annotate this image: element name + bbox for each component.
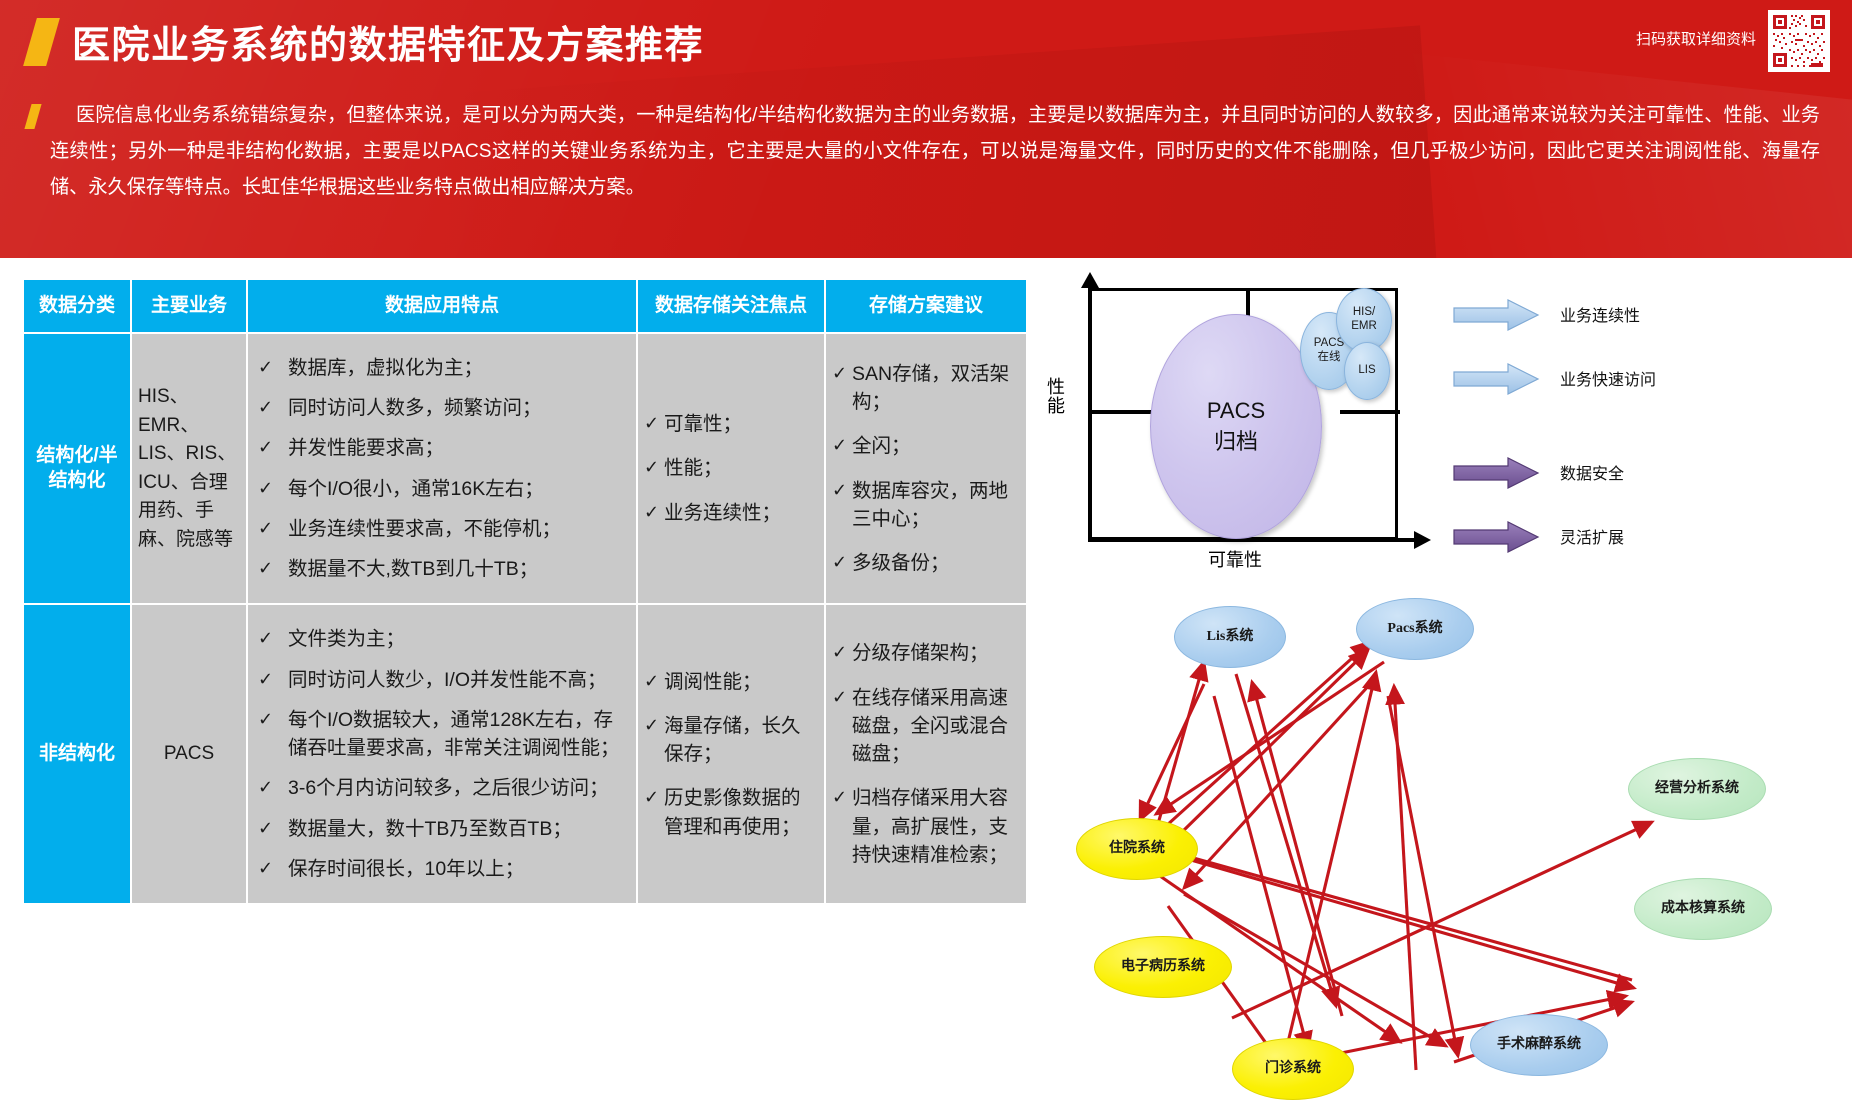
- node-pacs-system[interactable]: Pacs系统: [1356, 598, 1474, 660]
- list-item-label: 海量存储，长久保存；: [664, 715, 801, 765]
- x-axis-arrow-icon: [1414, 531, 1431, 549]
- list-item: ✓分级存储架构；: [832, 639, 1020, 667]
- list-item-label: 保存时间很长，10年以上；: [288, 858, 524, 880]
- check-icon: ✓: [644, 712, 659, 738]
- check-icon: ✓: [644, 410, 659, 436]
- bubble-label: LIS: [1358, 364, 1375, 378]
- list-item-label: 历史影像数据的管理和再使用；: [664, 787, 801, 837]
- check-icon: ✓: [832, 639, 847, 665]
- list-item: ✓多级备份；: [832, 549, 1020, 577]
- list-item-label: 可靠性；: [664, 413, 742, 435]
- dark-arrow-icon: [1452, 520, 1540, 559]
- check-icon: ✓: [258, 625, 273, 651]
- list-item-label: 文件类为主；: [288, 628, 405, 650]
- list-item-label: 调阅性能；: [664, 671, 762, 693]
- list-item: ✓业务连续性；: [644, 499, 818, 527]
- list-item: ✓同时访问人数多，频繁访问；: [254, 394, 630, 422]
- list-item: ✓数据库容灾，两地三中心；: [832, 477, 1020, 534]
- node-emr-system[interactable]: 电子病历系统: [1094, 936, 1232, 998]
- feature-list: ✓数据库，虚拟化为主； ✓同时访问人数多，频繁访问； ✓并发性能要求高； ✓每个…: [254, 354, 630, 584]
- column-header-features: 数据应用特点: [248, 280, 636, 332]
- list-item-label: SAN存储，双活架构；: [852, 363, 1009, 413]
- check-icon: ✓: [258, 475, 273, 501]
- light-arrow-icon: [1452, 298, 1540, 337]
- hospital-systems-network-diagram: Lis系统 Pacs系统 住院系统 电子病历系统 门诊系统 经营分析系统 成本核…: [1036, 576, 1846, 1116]
- list-item-label: 3-6个月内访问较多，之后很少访问；: [288, 777, 609, 799]
- intro-paragraph: 医院信息化业务系统错综复杂，但整体来说，是可以分为两大类，一种是结构化/半结构化…: [50, 98, 1820, 206]
- list-item-label: 同时访问人数多，频繁访问；: [288, 397, 542, 419]
- cell-focus-structured: ✓可靠性； ✓性能； ✓业务连续性；: [638, 334, 824, 604]
- data-characteristics-table: 数据分类 主要业务 数据应用特点 数据存储关注焦点 存储方案建议 结构化/半结构…: [22, 278, 1028, 905]
- check-icon: ✓: [644, 668, 659, 694]
- list-item: ✓SAN存储，双活架构；: [832, 360, 1020, 417]
- legend-label: 业务快速访问: [1560, 366, 1656, 390]
- list-item: ✓在线存储采用高速磁盘，全闪或混合磁盘；: [832, 684, 1020, 769]
- suggestion-list: ✓SAN存储，双活架构； ✓全闪； ✓数据库容灾，两地三中心； ✓多级备份；: [832, 360, 1020, 578]
- list-item-label: 数据库容灾，两地三中心；: [852, 480, 1008, 530]
- list-item: ✓3-6个月内访问较多，之后很少访问；: [254, 774, 630, 802]
- bubble-label: HIS/ EMR: [1351, 306, 1377, 334]
- column-header-suggestion: 存储方案建议: [826, 280, 1026, 332]
- list-item: ✓业务连续性要求高，不能停机；: [254, 515, 630, 543]
- legend-label: 数据安全: [1560, 460, 1624, 484]
- node-lis-system[interactable]: Lis系统: [1174, 606, 1286, 668]
- node-outpatient-system[interactable]: 门诊系统: [1232, 1038, 1354, 1100]
- list-item: ✓数据库，虚拟化为主；: [254, 354, 630, 382]
- list-item-label: 并发性能要求高；: [288, 437, 444, 459]
- dark-arrow-icon: [1452, 456, 1540, 495]
- check-icon: ✓: [832, 549, 847, 575]
- suggestion-list: ✓分级存储架构； ✓在线存储采用高速磁盘，全闪或混合磁盘； ✓归档存储采用大容量…: [832, 639, 1020, 869]
- check-icon: ✓: [832, 684, 847, 710]
- cell-focus-unstructured: ✓调阅性能； ✓海量存储，长久保存； ✓历史影像数据的管理和再使用；: [638, 605, 824, 903]
- list-item: ✓同时访问人数少，I/O并发性能不高；: [254, 666, 630, 694]
- check-icon: ✓: [832, 477, 847, 503]
- cell-suggestion-structured: ✓SAN存储，双活架构； ✓全闪； ✓数据库容灾，两地三中心； ✓多级备份；: [826, 334, 1026, 604]
- list-item-label: 同时访问人数少，I/O并发性能不高；: [288, 669, 607, 691]
- list-item: ✓并发性能要求高；: [254, 434, 630, 462]
- table-header-row: 数据分类 主要业务 数据应用特点 数据存储关注焦点 存储方案建议: [24, 280, 1026, 332]
- check-icon: ✓: [258, 666, 273, 692]
- node-cost-accounting-system[interactable]: 成本核算系统: [1634, 878, 1772, 940]
- cell-features-unstructured: ✓文件类为主； ✓同时访问人数少，I/O并发性能不高； ✓每个I/O数据较大，通…: [248, 605, 636, 903]
- list-item: ✓海量存储，长久保存；: [644, 712, 818, 769]
- check-icon: ✓: [258, 515, 273, 541]
- list-item-label: 性能；: [664, 457, 723, 479]
- bubble-label-line2: 归档: [1214, 427, 1258, 458]
- list-item: ✓可靠性；: [644, 410, 818, 438]
- list-item-label: 数据库，虚拟化为主；: [288, 357, 483, 379]
- header-banner: 医院业务系统的数据特征及方案推荐 扫码获取详细资料: [0, 0, 1852, 258]
- legend-item-continuity: 业务连续性: [1452, 290, 1842, 354]
- focus-list: ✓可靠性； ✓性能； ✓业务连续性；: [644, 410, 818, 527]
- list-item-label: 在线存储采用高速磁盘，全闪或混合磁盘；: [852, 687, 1008, 766]
- legend-item-data-security: 数据安全: [1452, 448, 1842, 512]
- x-axis-label: 可靠性: [1208, 546, 1262, 572]
- legend-item-fast-access: 业务快速访问: [1452, 354, 1842, 448]
- light-arrow-icon: [1452, 362, 1540, 401]
- column-header-focus: 数据存储关注焦点: [638, 280, 824, 332]
- bubble-label-line1: PACS: [1314, 337, 1344, 349]
- legend-label: 灵活扩展: [1560, 524, 1624, 548]
- list-item-label: 业务连续性；: [664, 502, 781, 524]
- bubble-label-line2: 在线: [1318, 351, 1341, 363]
- feature-list: ✓文件类为主； ✓同时访问人数少，I/O并发性能不高； ✓每个I/O数据较大，通…: [254, 625, 630, 883]
- focus-list: ✓调阅性能； ✓海量存储，长久保存； ✓历史影像数据的管理和再使用；: [644, 668, 818, 841]
- legend: 业务连续性 业务快速访问: [1452, 290, 1842, 576]
- bubble-label: PACS 在线: [1314, 337, 1344, 365]
- check-icon: ✓: [258, 555, 273, 581]
- qr-code-glyph: [1771, 13, 1827, 69]
- check-icon: ✓: [832, 784, 847, 810]
- cell-features-structured: ✓数据库，虚拟化为主； ✓同时访问人数多，频繁访问； ✓并发性能要求高； ✓每个…: [248, 334, 636, 604]
- list-item-label: 数据量不大,数TB到几十TB；: [288, 558, 538, 580]
- list-item-label: 归档存储采用大容量，高扩展性，支持快速精准检索；: [852, 787, 1008, 866]
- qr-code-icon[interactable]: [1768, 10, 1830, 72]
- check-icon: ✓: [258, 774, 273, 800]
- list-item: ✓归档存储采用大容量，高扩展性，支持快速精准检索；: [832, 784, 1020, 869]
- list-item: ✓数据量不大,数TB到几十TB；: [254, 555, 630, 583]
- check-icon: ✓: [258, 815, 273, 841]
- table-row: 非结构化 PACS ✓文件类为主； ✓同时访问人数少，I/O并发性能不高； ✓每…: [24, 605, 1026, 903]
- check-icon: ✓: [258, 394, 273, 420]
- list-item: ✓每个I/O很小，通常16K左右；: [254, 475, 630, 503]
- list-item: ✓全闪；: [832, 432, 1020, 460]
- list-item: ✓保存时间很长，10年以上；: [254, 855, 630, 883]
- list-item-label: 数据量大，数十TB乃至数百TB；: [288, 818, 572, 840]
- table-row: 结构化/半结构化 HIS、EMR、LIS、RIS、ICU、合理用药、手麻、院感等…: [24, 334, 1026, 604]
- check-icon: ✓: [644, 784, 659, 810]
- list-item: ✓历史影像数据的管理和再使用；: [644, 784, 818, 841]
- check-icon: ✓: [832, 360, 847, 386]
- quadrant-divider-horizontal-right: [1340, 410, 1400, 414]
- check-icon: ✓: [258, 706, 273, 732]
- x-axis-line: [1088, 538, 1418, 542]
- list-item-label: 每个I/O数据较大，通常128K左右，存储吞吐量要求高，非常关注调阅性能；: [288, 709, 620, 759]
- column-header-category: 数据分类: [24, 280, 130, 332]
- list-item-label: 全闪；: [852, 435, 911, 457]
- cell-category-structured: 结构化/半结构化: [24, 334, 130, 604]
- legend-label: 业务连续性: [1560, 302, 1640, 326]
- check-icon: ✓: [258, 354, 273, 380]
- cell-suggestion-unstructured: ✓分级存储架构； ✓在线存储采用高速磁盘，全闪或混合磁盘； ✓归档存储采用大容量…: [826, 605, 1026, 903]
- check-icon: ✓: [644, 499, 659, 525]
- list-item: ✓性能；: [644, 454, 818, 482]
- list-item-label: 业务连续性要求高，不能停机；: [288, 518, 561, 540]
- list-item: ✓调阅性能；: [644, 668, 818, 696]
- list-item: ✓数据量大，数十TB乃至数百TB；: [254, 815, 630, 843]
- cell-business-structured: HIS、EMR、LIS、RIS、ICU、合理用药、手麻、院感等: [132, 334, 246, 604]
- list-item: ✓每个I/O数据较大，通常128K左右，存储吞吐量要求高，非常关注调阅性能；: [254, 706, 630, 763]
- cell-category-unstructured: 非结构化: [24, 605, 130, 903]
- y-axis-label: 性能: [1046, 378, 1066, 416]
- bubble-lis: LIS: [1344, 342, 1390, 400]
- cell-business-unstructured: PACS: [132, 605, 246, 903]
- check-icon: ✓: [258, 855, 273, 881]
- node-inpatient-system[interactable]: 住院系统: [1076, 818, 1198, 880]
- bubble-pacs-archive: PACS 归档: [1150, 314, 1322, 539]
- bubble-label-line1: HIS/: [1353, 306, 1375, 318]
- check-icon: ✓: [832, 432, 847, 458]
- list-item: ✓文件类为主；: [254, 625, 630, 653]
- column-header-business: 主要业务: [132, 280, 246, 332]
- list-item-label: 分级存储架构；: [852, 642, 989, 664]
- check-icon: ✓: [258, 434, 273, 460]
- list-item-label: 每个I/O很小，通常16K左右；: [288, 478, 544, 500]
- check-icon: ✓: [644, 454, 659, 480]
- performance-reliability-quadrant: 性能 可靠性 PACS 归档 PACS 在线 HIS/ EMR LIS: [1040, 276, 1840, 566]
- node-anesthesia-system[interactable]: 手术麻醉系统: [1470, 1014, 1608, 1076]
- qr-caption: 扫码获取详细资料: [1636, 28, 1756, 49]
- slide-canvas: 医院业务系统的数据特征及方案推荐 扫码获取详细资料: [0, 0, 1852, 1120]
- bubble-label-line1: PACS: [1207, 396, 1265, 427]
- y-axis-arrow-icon: [1081, 272, 1099, 288]
- node-business-analysis-system[interactable]: 经营分析系统: [1628, 758, 1766, 820]
- legend-item-flexible-scaling: 灵活扩展: [1452, 512, 1842, 576]
- bubble-label-line2: EMR: [1351, 320, 1377, 332]
- list-item-label: 多级备份；: [852, 552, 950, 574]
- page-title: 医院业务系统的数据特征及方案推荐: [72, 14, 704, 69]
